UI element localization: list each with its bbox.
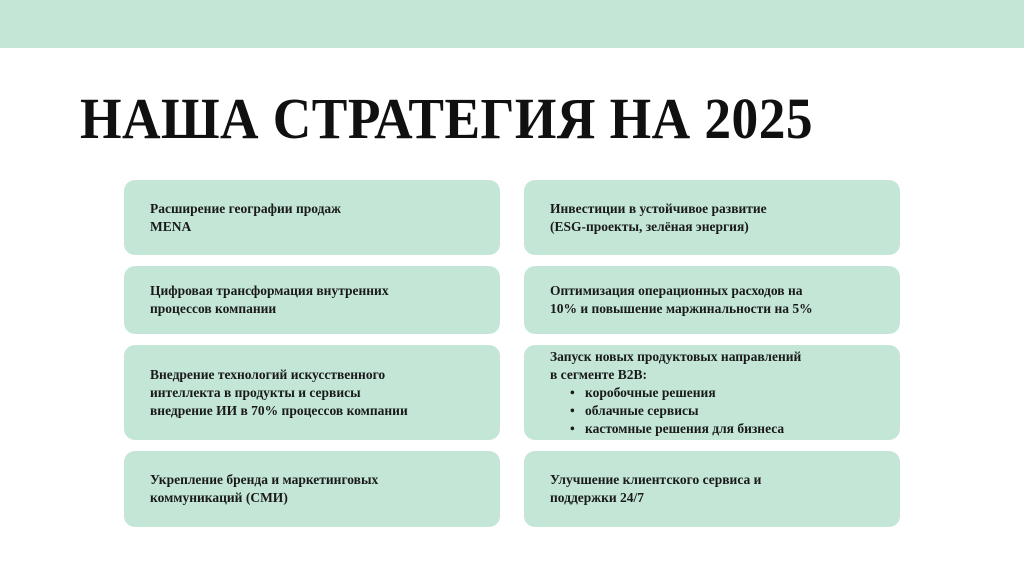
strategy-card-brand-marketing[interactable]: Укрепление бренда и маркетинговых коммун…	[124, 451, 500, 527]
strategy-card-opex-optimization[interactable]: Оптимизация операционных расходов на 10%…	[524, 266, 900, 334]
strategy-card-text: Оптимизация операционных расходов на 10%…	[550, 282, 880, 318]
list-item: облачные сервисы	[570, 402, 880, 420]
strategy-card-digital-transformation[interactable]: Цифровая трансформация внутренних процес…	[124, 266, 500, 334]
strategy-card-text: Запуск новых продуктовых направлений в с…	[550, 348, 880, 384]
strategy-card-text: Внедрение технологий искусственного инте…	[150, 366, 480, 420]
strategy-card-grid: Расширение географии продаж MENA Инвести…	[124, 180, 900, 528]
top-banner-decoration	[0, 0, 1024, 48]
strategy-card-b2b-launch[interactable]: Запуск новых продуктовых направлений в с…	[524, 345, 900, 440]
page-title: НАША СТРАТЕГИЯ НА 2025	[80, 88, 813, 150]
strategy-card-text: Расширение географии продаж MENA	[150, 200, 480, 236]
strategy-card-text: Укрепление бренда и маркетинговых коммун…	[150, 471, 480, 507]
b2b-bullet-list: коробочные решения облачные сервисы каст…	[550, 384, 880, 438]
list-item: коробочные решения	[570, 384, 880, 402]
strategy-card-ai-adoption[interactable]: Внедрение технологий искусственного инте…	[124, 345, 500, 440]
strategy-card-text: Цифровая трансформация внутренних процес…	[150, 282, 480, 318]
strategy-card-esg[interactable]: Инвестиции в устойчивое развитие (ESG-пр…	[524, 180, 900, 255]
strategy-card-customer-service[interactable]: Улучшение клиентского сервиса и поддержк…	[524, 451, 900, 527]
strategy-card-text: Улучшение клиентского сервиса и поддержк…	[550, 471, 880, 507]
strategy-card-text: Инвестиции в устойчивое развитие (ESG-пр…	[550, 200, 880, 236]
strategy-card-geography[interactable]: Расширение географии продаж MENA	[124, 180, 500, 255]
presentation-slide: НАША СТРАТЕГИЯ НА 2025 Расширение геогра…	[0, 0, 1024, 576]
list-item: кастомные решения для бизнеса	[570, 420, 880, 438]
